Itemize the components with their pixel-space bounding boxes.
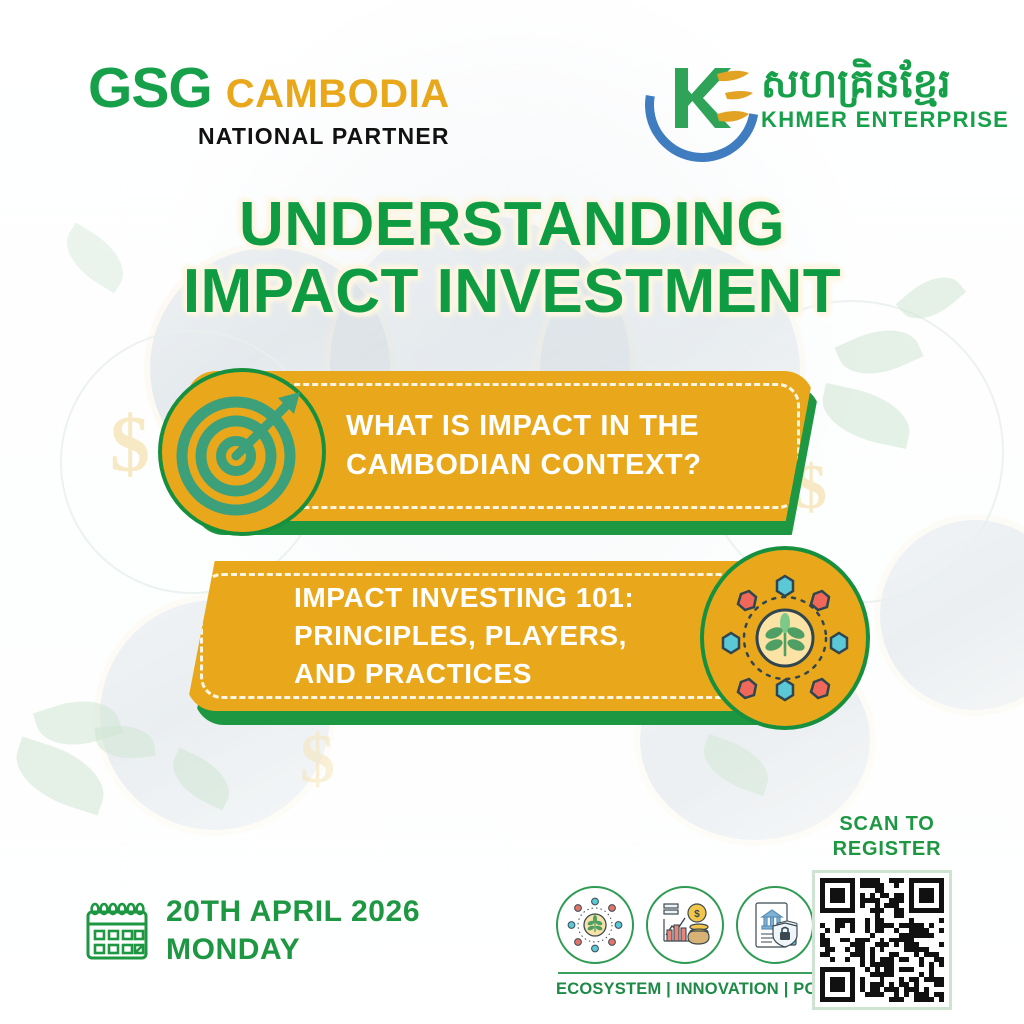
header: GSG CAMBODIA NATIONAL PARTNER សហគ្រិនខ្ម… (0, 0, 1024, 170)
topic-card-2-line1: IMPACT INVESTING 101: (294, 579, 634, 617)
ecosystem-icon-graphic (565, 895, 625, 955)
svg-text:$: $ (694, 909, 700, 920)
gsg-logo-country: CAMBODIA (226, 74, 450, 114)
watermark-photo (880, 520, 1024, 710)
innovation-icon: $ (646, 886, 724, 964)
page-title-line2: IMPACT INVESTMENT (0, 259, 1024, 326)
watermark-leaf-icon (816, 383, 916, 449)
ke-monogram-icon (645, 48, 757, 148)
pillar-icon-row: $ (556, 886, 814, 964)
qr-code-matrix (820, 878, 944, 1002)
ecosystem-badge-graphic (710, 563, 860, 713)
calendar-icon (84, 900, 150, 962)
ke-logo-latin-name: KHMER ENTERPRISE (761, 107, 1009, 133)
ke-logo-mark (645, 48, 757, 148)
poster-canvas: $ $ $ GSG CAMBODIA NATIONAL PARTNER (0, 0, 1024, 1024)
event-date: 20TH APRIL 2026 (166, 893, 420, 931)
qr-title: SCAN TO REGISTER (812, 812, 962, 862)
ecosystem-badge-icon (700, 546, 870, 730)
topic-card-2-line2: PRINCIPLES, PLAYERS, (294, 617, 634, 655)
policy-icon (736, 886, 814, 964)
target-icon (158, 368, 326, 536)
watermark-leaf-icon (834, 316, 923, 388)
watermark-leaf-icon (94, 722, 155, 762)
topic-card-1-line1: WHAT IS IMPACT IN THE (346, 407, 702, 446)
watermark-leaf-icon (695, 734, 776, 796)
qr-code[interactable] (812, 870, 952, 1010)
khmer-enterprise-logo: សហគ្រិនខ្មែរ KHMER ENTERPRISE (645, 48, 1009, 148)
gsg-logo-mark: GSG (88, 60, 212, 117)
qr-title-line1: SCAN TO (812, 812, 962, 837)
pillars-label: ECOSYSTEM | INNOVATION | POLICY (556, 980, 814, 999)
event-date-text: 20TH APRIL 2026 MONDAY (166, 893, 420, 968)
topic-card-1-line2: CAMBODIAN CONTEXT? (346, 446, 702, 485)
event-weekday: MONDAY (166, 931, 420, 969)
watermark-dollar-icon: $ (110, 400, 150, 491)
qr-block[interactable]: SCAN TO REGISTER (812, 812, 962, 1010)
watermark-leaf-icon (163, 747, 239, 810)
policy-icon-graphic (745, 895, 805, 955)
topic-card-2-line3: AND PRACTICES (294, 655, 634, 693)
topic-card-2-text: IMPACT INVESTING 101: PRINCIPLES, PLAYER… (294, 579, 634, 692)
watermark-dollar-icon: $ (300, 720, 335, 800)
target-icon-graphic (172, 382, 312, 522)
event-date-block: 20TH APRIL 2026 MONDAY (84, 893, 420, 968)
ecosystem-icon (556, 886, 634, 964)
pillars-block: $ (556, 886, 814, 999)
page-title-line1: UNDERSTANDING (239, 190, 785, 259)
innovation-icon-graphic: $ (655, 895, 715, 955)
watermark-leaf-icon (6, 736, 113, 815)
pillar-divider (558, 972, 812, 974)
topic-card-1-text: WHAT IS IMPACT IN THE CAMBODIAN CONTEXT? (346, 407, 702, 485)
qr-title-line2: REGISTER (812, 837, 962, 862)
watermark-leaf-icon (33, 689, 123, 757)
ke-logo-khmer-name: សហគ្រិនខ្មែរ (761, 63, 1009, 105)
page-title: UNDERSTANDING IMPACT INVESTMENT (0, 192, 1024, 326)
gsg-logo-subtitle: NATIONAL PARTNER (88, 123, 450, 150)
gsg-cambodia-logo: GSG CAMBODIA NATIONAL PARTNER (88, 60, 450, 150)
